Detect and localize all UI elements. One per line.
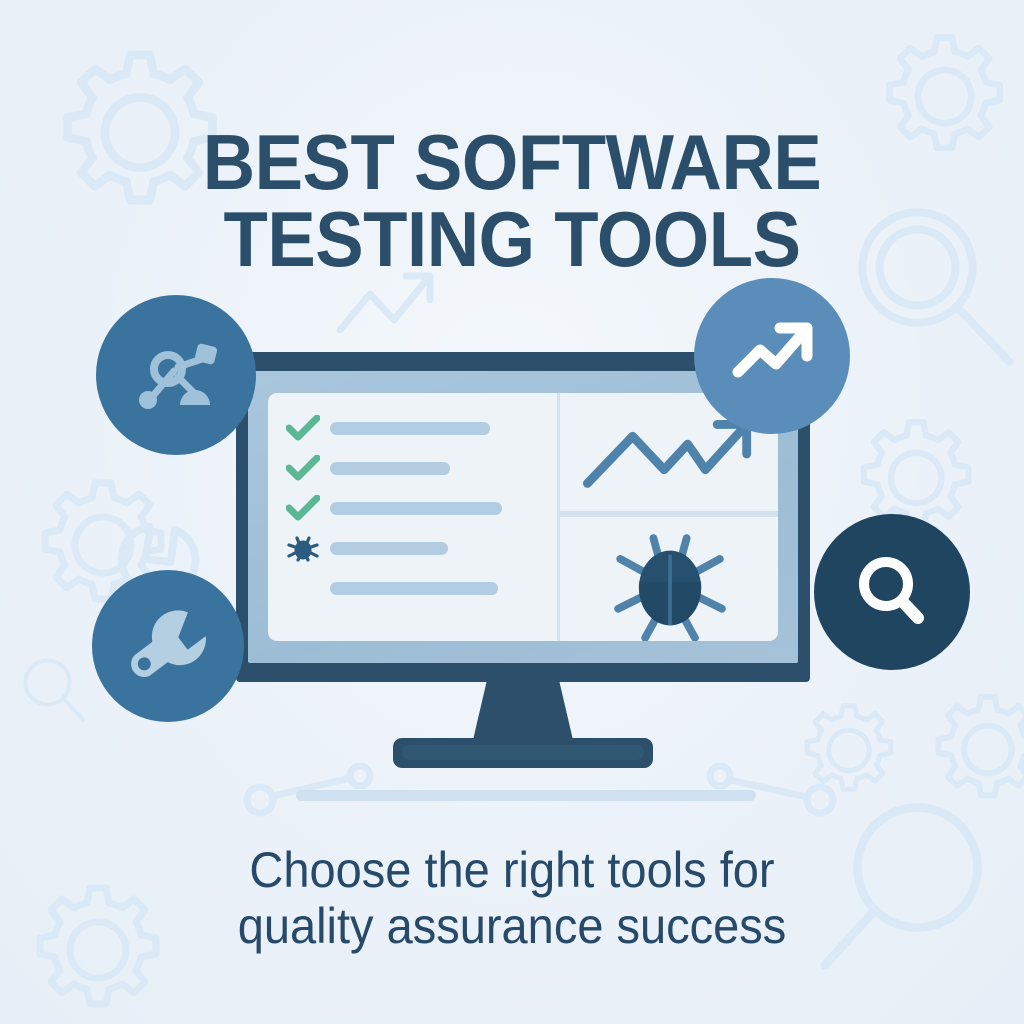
checklist-rows xyxy=(286,415,543,601)
badge-automation[interactable] xyxy=(96,295,256,455)
list-item xyxy=(286,575,543,601)
list-item xyxy=(286,495,543,521)
text-bar xyxy=(330,502,502,515)
badge-search[interactable] xyxy=(814,514,970,670)
gear-icon xyxy=(939,697,1024,796)
automation-nodes-icon xyxy=(128,327,224,423)
bug-icon xyxy=(560,517,778,641)
page-title: BEST SOFTWARE TESTING TOOLS xyxy=(36,124,988,277)
magnifier-icon xyxy=(842,542,942,642)
wrench-icon xyxy=(120,598,216,694)
gear-icon xyxy=(864,422,968,526)
monitor-screen xyxy=(268,393,778,641)
monitor-bezel xyxy=(248,371,798,663)
magnifier-icon xyxy=(26,661,84,720)
desk-surface-line xyxy=(296,790,756,801)
checklist-panel xyxy=(268,393,560,641)
badge-wrench[interactable] xyxy=(92,570,244,722)
text-bar xyxy=(330,462,450,475)
trend-up-icon xyxy=(722,306,822,406)
monitor-neck xyxy=(473,680,573,740)
text-bar xyxy=(330,422,490,435)
monitor-illustration xyxy=(236,352,810,804)
list-item xyxy=(286,455,543,481)
poster-canvas: BEST SOFTWARE TESTING TOOLS xyxy=(0,0,1024,1024)
badge-trend[interactable] xyxy=(694,278,850,434)
text-bar xyxy=(330,542,448,555)
monitor-base-highlight xyxy=(402,745,644,760)
page-title-line-1: BEST SOFTWARE xyxy=(36,124,988,200)
check-icon xyxy=(286,495,322,521)
bug-panel xyxy=(560,517,778,641)
check-icon xyxy=(286,455,322,481)
page-title-line-2: TESTING TOOLS xyxy=(36,201,988,277)
text-bar xyxy=(330,582,498,595)
page-subtitle-line-2: quality assurance success xyxy=(31,898,994,954)
list-item xyxy=(286,535,543,561)
list-item xyxy=(286,415,543,441)
bug-icon xyxy=(286,535,322,561)
right-panels xyxy=(560,393,778,641)
page-subtitle-line-1: Choose the right tools for xyxy=(31,842,994,898)
gear-icon xyxy=(807,706,891,790)
trend-up-icon xyxy=(340,276,430,330)
check-icon xyxy=(286,415,322,441)
page-subtitle: Choose the right tools for quality assur… xyxy=(31,842,994,954)
empty-status xyxy=(286,575,322,601)
